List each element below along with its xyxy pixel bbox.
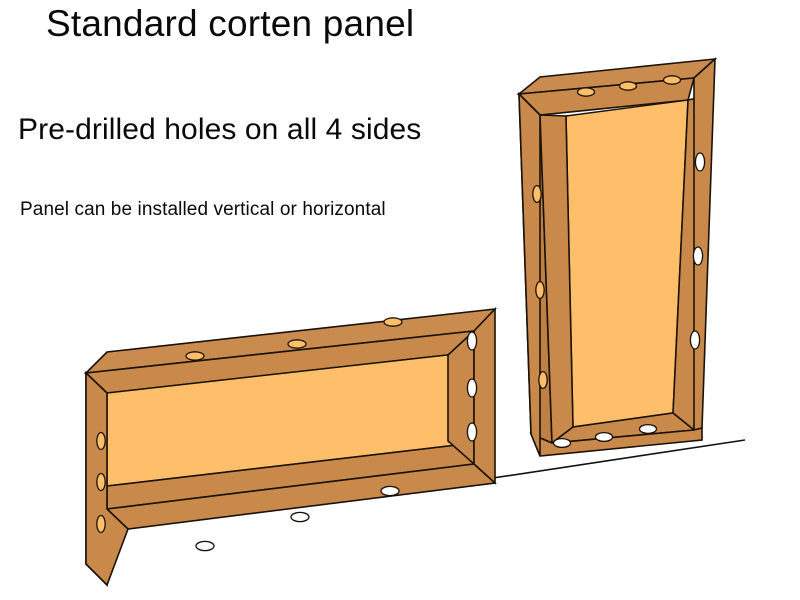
hole-bottom-rail-2 [291, 512, 309, 521]
vertical-panel-left-outer-wall [519, 94, 540, 456]
hole-v-top-rail-2 [620, 82, 637, 90]
vertical-panel-front-face [566, 100, 688, 427]
hole-v-bottom-rail-1 [554, 439, 571, 448]
slide-canvas: Standard corten panel Pre-drilled holes … [0, 0, 800, 600]
hole-left-end-3 [97, 516, 105, 533]
hole-top-rail-2 [288, 340, 306, 348]
hole-v-right-end-3 [690, 331, 699, 349]
hole-v-top-rail-1 [578, 88, 595, 96]
horizontal-panel [86, 309, 495, 585]
hole-v-bottom-rail-2 [596, 433, 613, 442]
horizontal-panel-right-end-face [448, 331, 474, 464]
hole-top-rail-3 [384, 318, 402, 326]
hole-v-left-end-2 [536, 282, 544, 299]
hole-right-end-1 [467, 332, 476, 350]
hole-left-end-2 [97, 474, 105, 491]
hole-v-left-end-1 [533, 186, 541, 203]
hole-left-end-1 [97, 433, 105, 450]
vertical-panel [519, 59, 715, 456]
hole-v-top-rail-3 [664, 76, 681, 84]
horizontal-panel-right-outer-edge [474, 309, 495, 483]
hole-v-right-end-2 [693, 247, 702, 265]
hole-v-right-end-1 [695, 153, 704, 171]
hole-right-end-3 [467, 423, 476, 441]
vertical-panel-right-end-face [694, 59, 715, 430]
hole-top-rail-1 [186, 352, 204, 360]
hole-v-left-end-3 [539, 372, 547, 389]
hole-right-end-2 [467, 379, 476, 397]
panels-illustration [0, 0, 800, 600]
hole-bottom-rail-1 [196, 541, 214, 550]
hole-bottom-rail-3 [381, 486, 399, 495]
hole-v-bottom-rail-3 [640, 425, 657, 434]
